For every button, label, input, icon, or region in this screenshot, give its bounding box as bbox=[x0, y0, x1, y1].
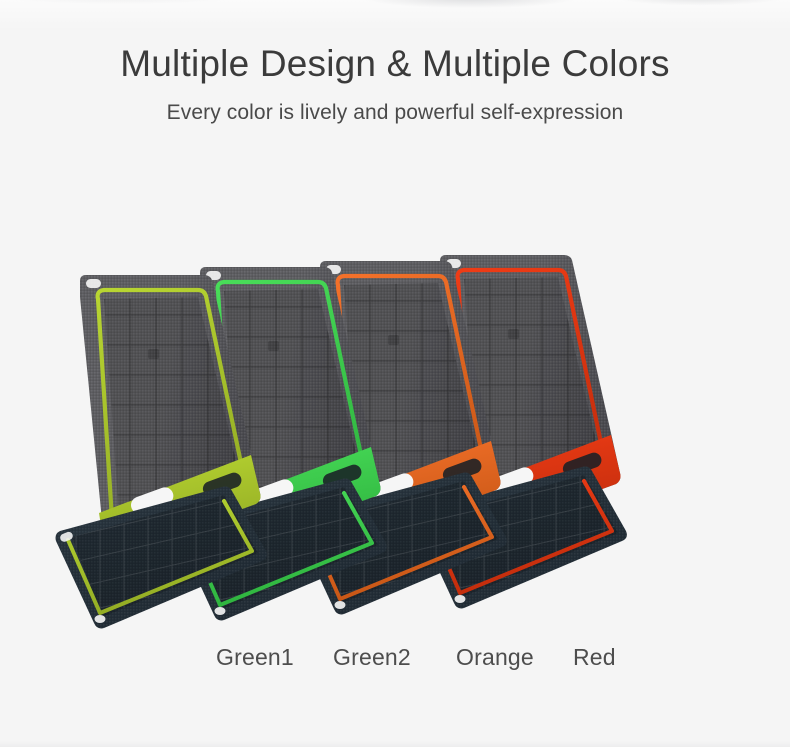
grommet-flap-bottom bbox=[95, 615, 106, 623]
variant-label-green2[interactable]: Green2 bbox=[333, 644, 411, 671]
product-showcase-page: Multiple Design & Multiple Colors Every … bbox=[0, 0, 790, 747]
variant-label-green1[interactable]: Green1 bbox=[216, 644, 294, 671]
grommet-top-left bbox=[86, 279, 101, 288]
variant-label-orange[interactable]: Orange bbox=[456, 644, 534, 671]
top-shadow-band bbox=[0, 0, 790, 30]
variant-label-red[interactable]: Red bbox=[573, 644, 616, 671]
heading-block: Multiple Design & Multiple Colors Every … bbox=[0, 44, 790, 125]
solar-panel-green1[interactable] bbox=[52, 255, 352, 645]
variant-caption-row: Green1Green2OrangeRed bbox=[0, 644, 790, 684]
panel-front-flap bbox=[52, 475, 352, 655]
panel-vent bbox=[148, 349, 159, 359]
page-subtitle: Every color is lively and powerful self-… bbox=[0, 101, 790, 125]
page-title: Multiple Design & Multiple Colors bbox=[0, 44, 790, 85]
bottom-divider bbox=[0, 741, 790, 747]
product-image-stage bbox=[0, 235, 790, 635]
panel-graphic bbox=[52, 255, 352, 645]
